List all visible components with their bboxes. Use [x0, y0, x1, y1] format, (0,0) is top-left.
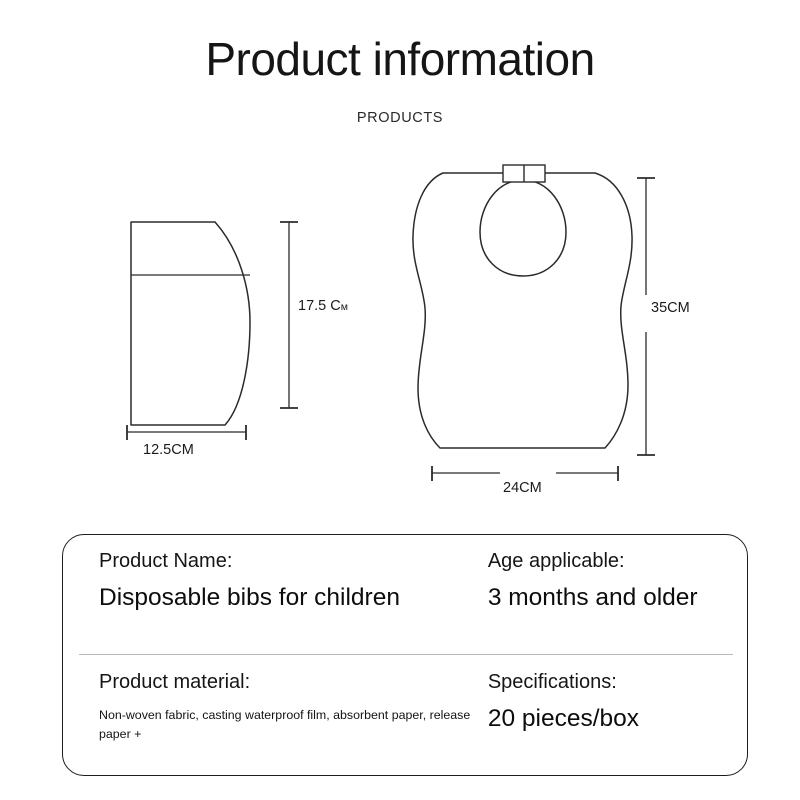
product-name-value: Disposable bibs for children [99, 583, 478, 612]
card-divider [79, 654, 733, 655]
age-applicable-field: Age applicable: 3 months and older [478, 549, 747, 653]
specifications-label: Specifications: [488, 670, 747, 695]
product-material-field: Product material: Non-woven fabric, cast… [63, 670, 478, 770]
product-material-label: Product material: [99, 670, 478, 695]
open-bib-width-label: 24CM [503, 480, 542, 496]
product-diagrams: 17.5 См 12.5CM 35CM 24CM [0, 140, 800, 510]
age-applicable-value: 3 months and older [488, 583, 747, 612]
folded-bib-width-dimension [127, 425, 246, 440]
specifications-field: Specifications: 20 pieces/box [478, 670, 747, 770]
folded-bib-height-label: 17.5 См [298, 298, 348, 314]
folded-bib-unit-big: С [330, 298, 340, 314]
product-name-label: Product Name: [99, 549, 478, 574]
product-info-card: Product Name: Disposable bibs for childr… [62, 534, 748, 776]
open-bib-shape [413, 165, 632, 448]
page-title: Product information [0, 34, 800, 85]
folded-bib-width-label: 12.5CM [143, 442, 194, 458]
specifications-value: 20 pieces/box [488, 704, 747, 733]
folded-bib-unit-small: м [341, 301, 348, 313]
age-applicable-label: Age applicable: [488, 549, 747, 574]
open-bib-height-label: 35CM [651, 300, 690, 316]
open-bib-height-dimension [637, 178, 655, 455]
folded-bib-height-dimension [280, 222, 298, 408]
diagram-svg [0, 140, 800, 510]
page-subtitle: PRODUCTS [0, 110, 800, 126]
info-row-top: Product Name: Disposable bibs for childr… [63, 549, 747, 653]
product-material-value: Non-woven fabric, casting waterproof fil… [99, 706, 471, 744]
info-row-bottom: Product material: Non-woven fabric, cast… [63, 670, 747, 770]
folded-bib-shape [131, 222, 250, 425]
open-bib-width-dimension [432, 466, 618, 481]
folded-bib-height-value: 17.5 [298, 298, 326, 314]
product-name-field: Product Name: Disposable bibs for childr… [63, 549, 478, 653]
